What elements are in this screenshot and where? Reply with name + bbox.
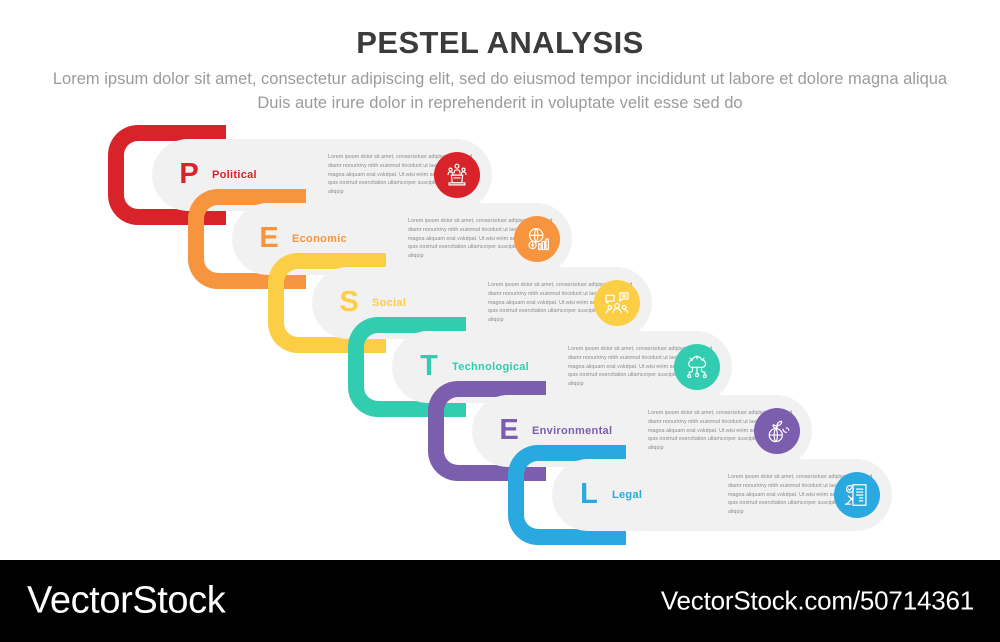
card-category-name: Political <box>212 169 320 181</box>
card-letter: E <box>246 224 292 253</box>
card-category-name: Environmental <box>532 425 640 437</box>
card-letter: S <box>326 288 372 317</box>
vectorstock-logo: VectorStock <box>27 580 225 623</box>
card-category-name: Social <box>372 297 480 309</box>
pestel-diagram: PPoliticalLorem ipsum dolor sit amet, co… <box>0 125 1000 545</box>
card-letter: E <box>486 416 532 445</box>
card-letter: P <box>166 160 212 189</box>
page-header: PESTEL ANALYSIS Lorem ipsum dolor sit am… <box>0 0 1000 115</box>
card-category-name: Legal <box>612 489 720 501</box>
vectorstock-url: VectorStock.com/50714361 <box>661 586 974 617</box>
card-letter: L <box>566 480 612 509</box>
watermark-footer: VectorStock VectorStock.com/50714361 <box>0 560 1000 642</box>
page-subtitle: Lorem ipsum dolor sit amet, consectetur … <box>50 68 950 115</box>
card-category-name: Technological <box>452 361 560 373</box>
legal-document-gavel-icon <box>834 472 880 518</box>
card-category-name: Economic <box>292 233 400 245</box>
page-title: PESTEL ANALYSIS <box>0 26 1000 60</box>
card-letter: T <box>406 352 452 381</box>
pestel-row-legal[interactable]: LLegalLorem ipsum dolor sit amet, consec… <box>508 445 948 545</box>
